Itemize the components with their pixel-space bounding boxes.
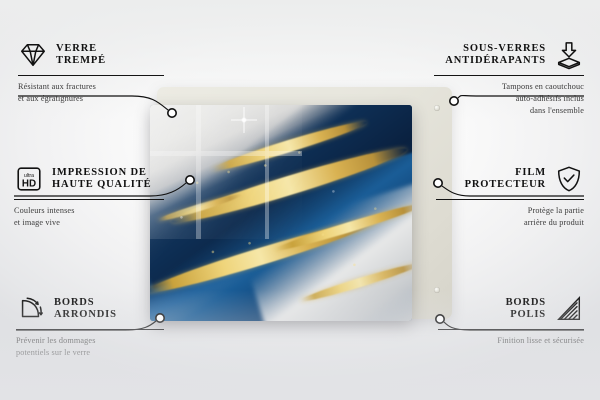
feature-description: Couleurs intenses et image vive (14, 205, 196, 229)
feature-title: IMPRESSION DE HAUTE QUALITÉ (52, 167, 151, 191)
feature-description: Prévenir les dommages potentiels sur le … (16, 335, 198, 359)
feature-verre-trempe: VERRE TREMPÉ Résistant aux fractures et … (18, 40, 200, 105)
feature-description: Protège la partie arrière du produit (402, 205, 584, 229)
divider (436, 199, 584, 200)
divider (16, 329, 164, 330)
feature-description: Résistant aux fractures et aux égratignu… (18, 81, 200, 105)
feature-title: SOUS-VERRES ANTIDÉRAPANTS (445, 43, 546, 67)
feature-title: BORDS ARRONDIS (54, 297, 117, 321)
connector-node-verre (168, 109, 176, 117)
feature-title: VERRE TREMPÉ (56, 43, 106, 67)
feature-bords-arrondis: BORDS ARRONDIS Prévenir les dommages pot… (16, 294, 198, 359)
rounded-corner-icon (16, 294, 46, 324)
divider (434, 75, 584, 76)
feature-title: BORDS POLIS (506, 297, 546, 321)
ultra-hd-badge-icon: ultra HD (14, 164, 44, 194)
diamond-icon (18, 40, 48, 70)
infographic-canvas: VERRE TREMPÉ Résistant aux fractures et … (0, 0, 600, 400)
feature-film-protecteur: FILM PROTECTEUR Protège la partie arrièr… (402, 164, 584, 229)
feature-sous-verres-antiderapants: SOUS-VERRES ANTIDÉRAPANTS Tampons en cao… (400, 40, 584, 117)
feature-bords-polis: BORDS POLIS Finition lisse et sécurisée (404, 294, 584, 347)
divider (18, 75, 164, 76)
divider (14, 199, 164, 200)
feature-impression-haute-qualite: ultra HD IMPRESSION DE HAUTE QUALITÉ Cou… (14, 164, 196, 229)
feature-description: Tampons en caoutchouc auto-adhésifs incl… (400, 81, 584, 117)
divider (438, 329, 584, 330)
hatched-triangle-icon (554, 294, 584, 324)
arrow-onto-pad-icon (554, 40, 584, 70)
shield-check-icon (554, 164, 584, 194)
svg-text:HD: HD (22, 179, 36, 190)
feature-title: FILM PROTECTEUR (465, 167, 546, 191)
feature-description: Finition lisse et sécurisée (404, 335, 584, 347)
